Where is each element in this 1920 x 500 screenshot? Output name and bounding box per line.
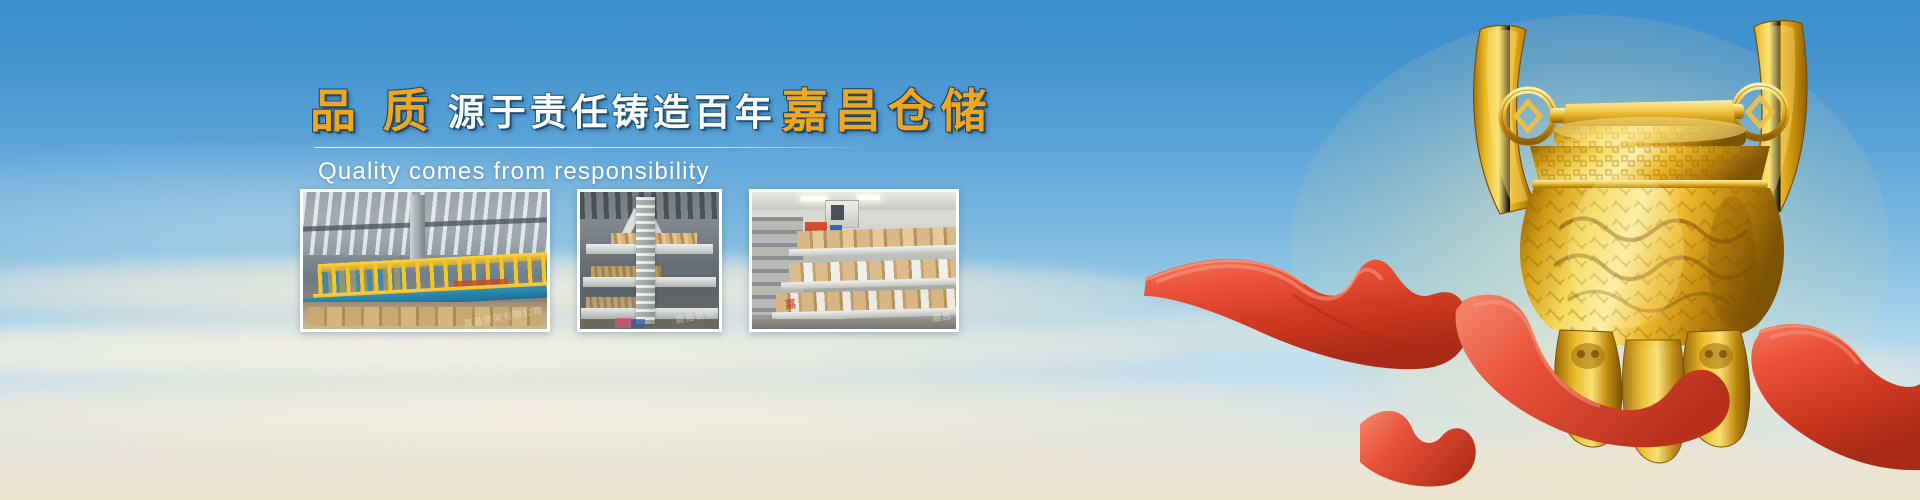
photo-2-image: 嘉昌货架	[580, 192, 719, 329]
ding-shoulder-edge	[1532, 180, 1768, 189]
ding-rim-highlight	[1554, 117, 1746, 143]
headline-white-middle: 源于责任铸造百年	[448, 94, 776, 134]
photo-3-wall-unit	[825, 200, 859, 227]
photo-1-column	[410, 195, 425, 266]
golden-ding-ornament	[1060, 0, 1920, 500]
subtitle-english: Quality comes from responsibility	[318, 158, 950, 186]
ding-handle-right	[1744, 21, 1807, 212]
ding-leg-left	[1555, 330, 1622, 447]
headline-block: 品 质 源于责任铸造百年 嘉昌仓储 Quality comes from res…	[310, 88, 950, 186]
ding-body-relief	[1520, 188, 1784, 347]
ding-coin-bar-left	[1550, 108, 1588, 123]
photo-3-lamp-right	[858, 195, 880, 200]
ding-body-shadow	[1708, 196, 1756, 328]
photo-2-pink-item	[615, 318, 632, 328]
headline-gold-lead: 品 质	[310, 88, 436, 134]
ding-rim	[1554, 126, 1746, 146]
silk-highlight-a	[1156, 266, 1382, 299]
photo-strip: 嘉昌货架有限公司 嘉昌货架	[300, 189, 959, 332]
photo-2-blue-item	[631, 319, 645, 327]
photo-2-mast	[636, 197, 655, 323]
silk-ribbon-bottom-tail	[1360, 411, 1476, 487]
photo-3-floor	[752, 319, 956, 329]
ding-handle-left	[1474, 25, 1536, 214]
photo-3-stamp: 嘉	[784, 295, 797, 312]
ding-coin-bar-right	[1706, 104, 1744, 119]
ding-coin-ornament-left	[1502, 90, 1554, 142]
silk-shadow-a	[1292, 294, 1422, 350]
ding-leg-right	[1683, 330, 1750, 447]
ding-dragon-relief-lower	[1554, 255, 1752, 279]
ding-body-highlight	[1568, 172, 1684, 328]
silk-ribbon-upper-left	[1144, 259, 1469, 369]
ding-dragon-relief-upper	[1560, 218, 1748, 241]
photo-1-image: 嘉昌货架有限公司	[303, 192, 547, 329]
photo-1-cartons	[308, 307, 542, 326]
cloud-bottom-sheen	[0, 430, 1920, 500]
photo-thumbnail-2[interactable]: 嘉昌货架	[577, 189, 722, 332]
photo-3-image: 嘉 嘉昌	[752, 192, 956, 329]
ding-shoulder	[1530, 146, 1770, 186]
promo-banner: 品 质 源于责任铸造百年 嘉昌仓储 Quality comes from res…	[0, 0, 1920, 500]
photo-thumbnail-3[interactable]: 嘉 嘉昌	[749, 189, 959, 332]
photo-3-lamp-left	[801, 196, 827, 201]
ding-coin-ornament-right	[1734, 86, 1786, 138]
silk-highlight-b	[1474, 302, 1600, 406]
headline-gold-brand: 嘉昌仓储	[782, 88, 994, 134]
ding-neck	[1562, 100, 1736, 132]
photo-thumbnail-1[interactable]: 嘉昌货架有限公司	[300, 189, 550, 332]
cloud-band-lower	[0, 368, 1400, 464]
ding-body	[1520, 188, 1784, 347]
cloud-wisp-right	[1380, 340, 1920, 420]
ding-dragon-relief-base	[1568, 291, 1730, 311]
headline-divider	[314, 147, 874, 148]
ding-leg-center	[1622, 340, 1686, 463]
silk-ribbon-lower	[1456, 295, 1730, 448]
silk-ribbon-right	[1751, 324, 1920, 470]
silk-highlight-c	[1770, 332, 1858, 364]
headline: 品 质 源于责任铸造百年 嘉昌仓储	[310, 88, 950, 134]
